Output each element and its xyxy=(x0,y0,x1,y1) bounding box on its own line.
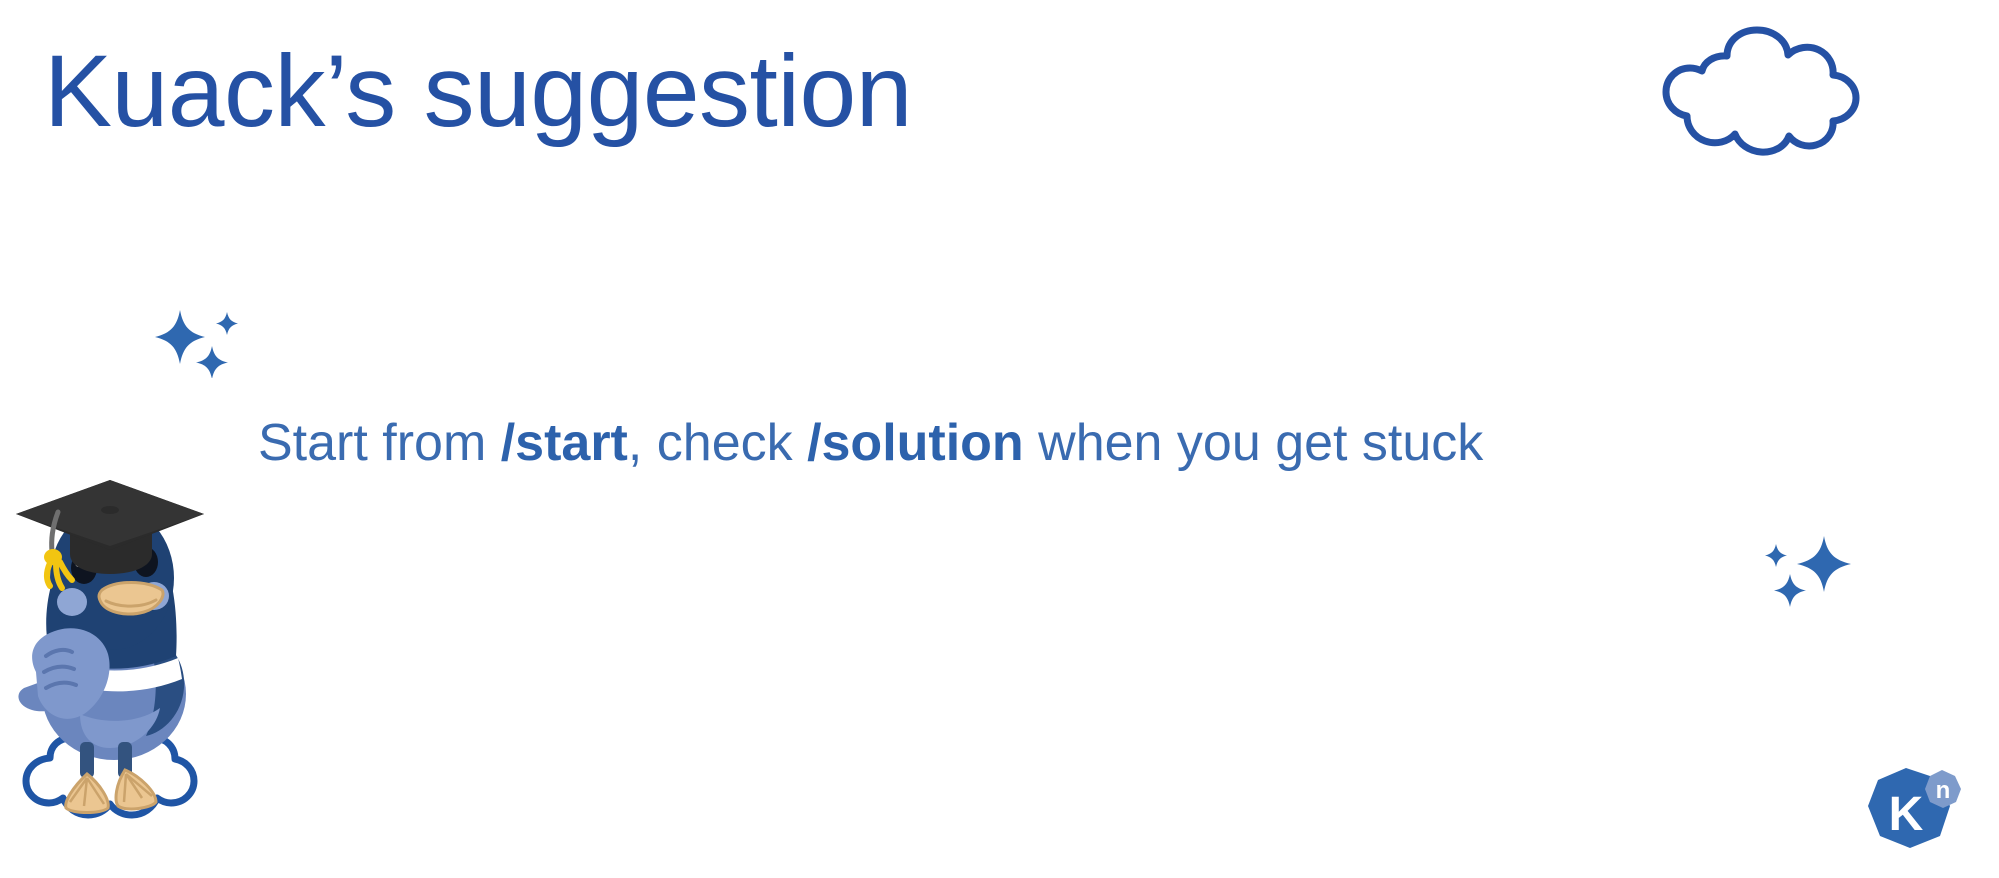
logo-secondary-letter: n xyxy=(1936,777,1951,804)
suggestion-text-part-3: when you get stuck xyxy=(1024,414,1484,472)
slide-canvas: Kuack’s suggestion Start from /start, ch… xyxy=(0,0,1999,878)
page-title: Kuack’s suggestion xyxy=(44,40,912,142)
kn-logo-icon[interactable]: K n xyxy=(1862,762,1966,858)
logo-primary-letter: K xyxy=(1889,788,1924,841)
duck-graduate-mascot-icon xyxy=(6,458,216,830)
suggestion-text-part-2: , check xyxy=(628,414,807,472)
suggestion-text: Start from /start, check /solution when … xyxy=(258,414,1483,474)
command-solution: /solution xyxy=(807,414,1024,472)
command-start: /start xyxy=(501,414,628,472)
sparkles-icon xyxy=(148,306,240,378)
sparkles-icon xyxy=(1760,530,1858,608)
suggestion-text-part-1: Start from xyxy=(258,414,501,472)
cloud-outline-icon xyxy=(1657,26,1867,156)
graduation-cap-icon xyxy=(16,480,204,588)
